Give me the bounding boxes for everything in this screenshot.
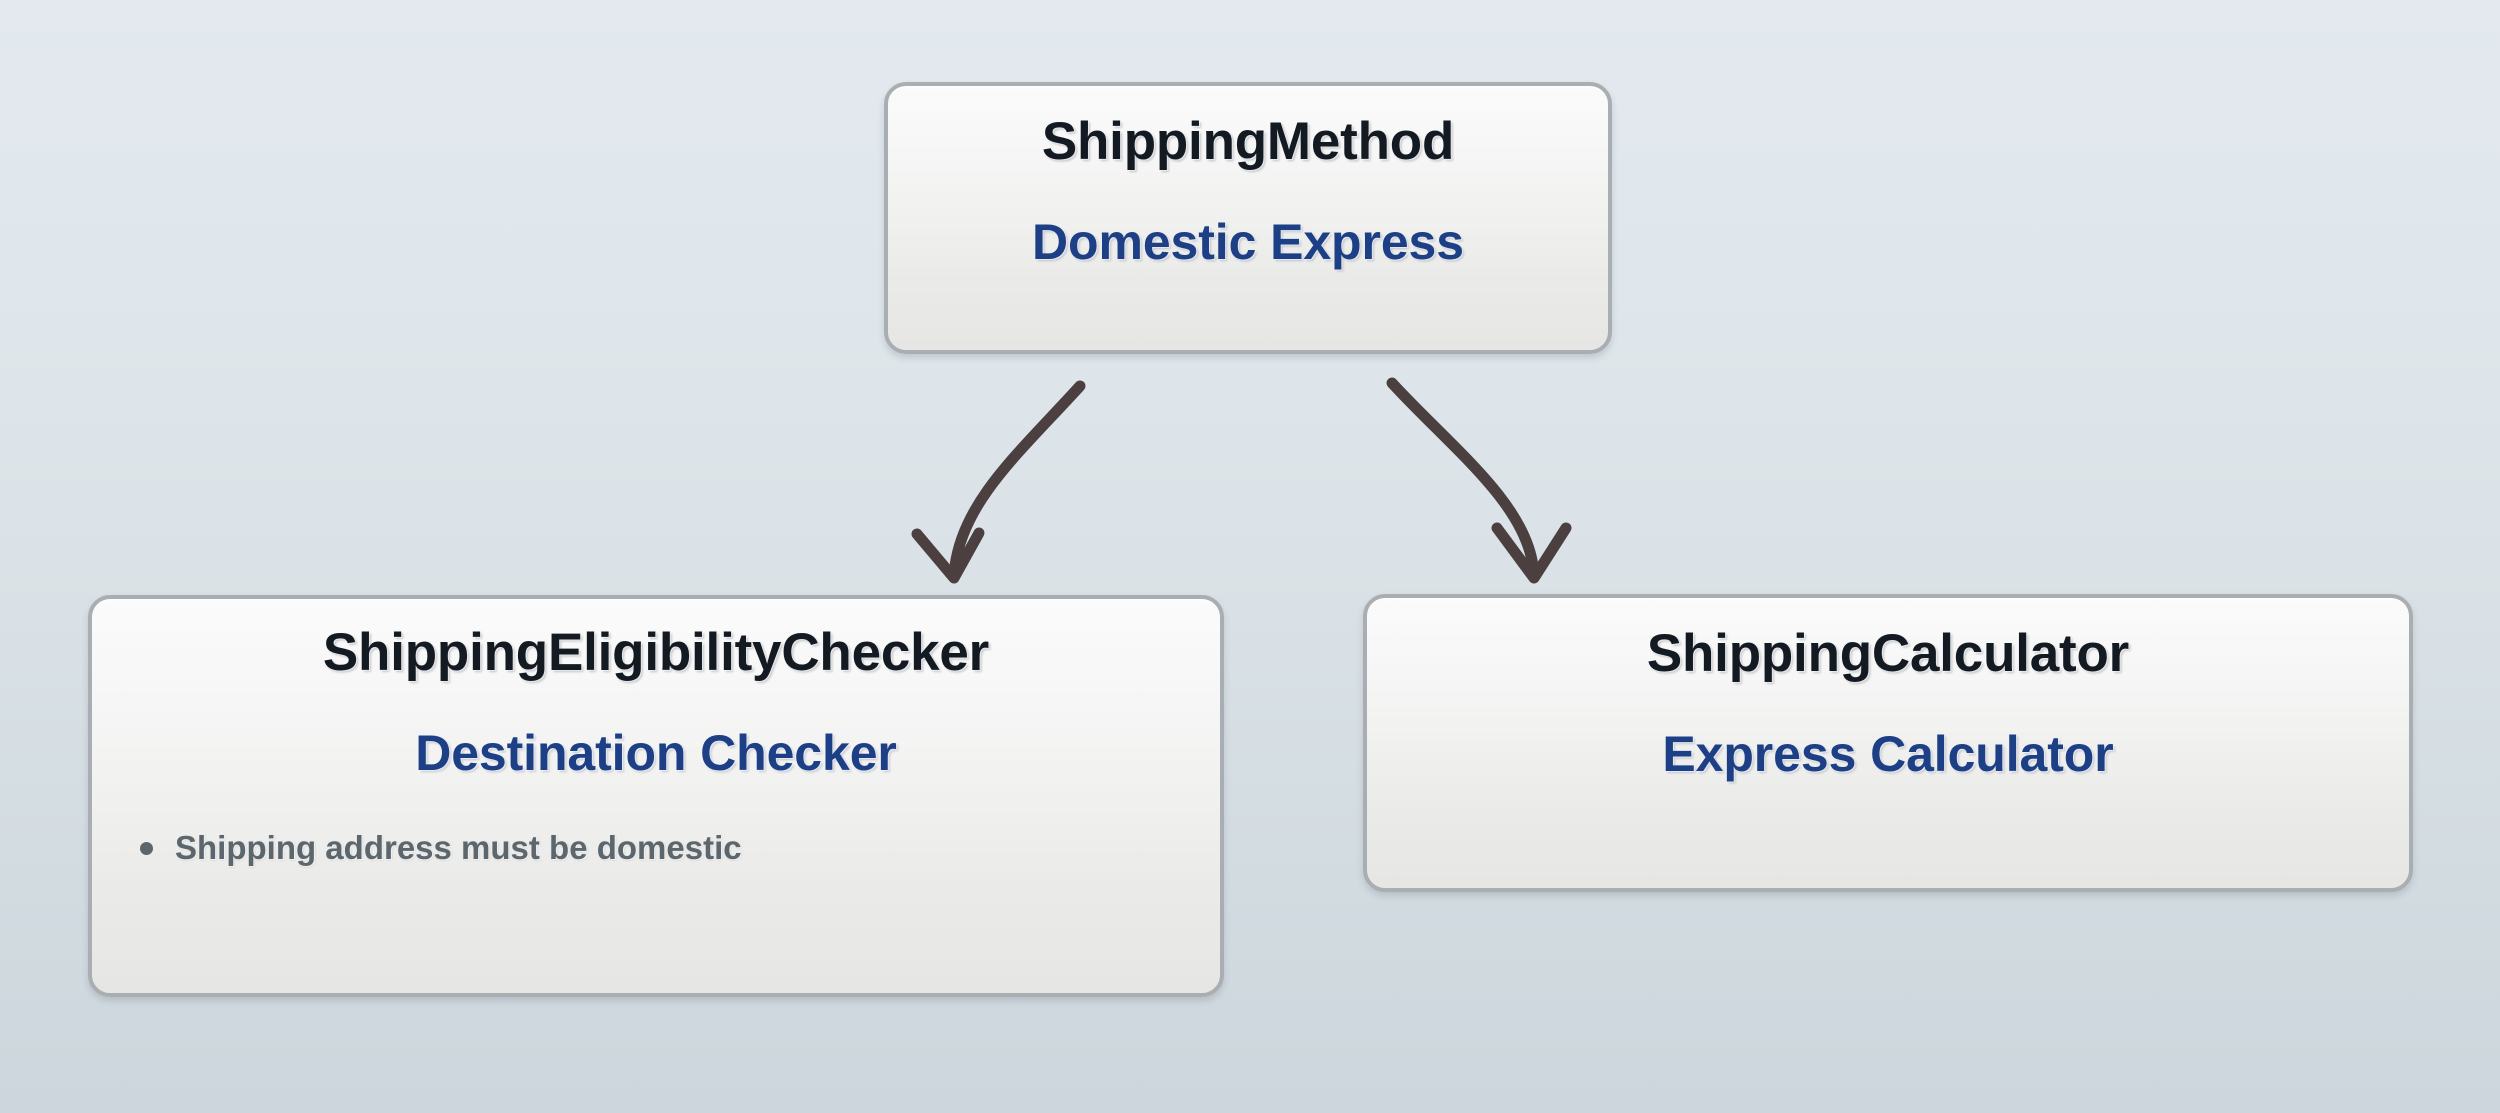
node-shipping-eligibility-checker-subtitle: Destination Checker	[415, 727, 897, 780]
diagram-canvas: ShippingMethod Domestic Express Shipping…	[0, 0, 2500, 1113]
rule-text: Shipping address must be domestic	[175, 829, 1220, 867]
edge-method-to-calculator-arrowhead	[1497, 528, 1566, 578]
node-shipping-calculator-title: ShippingCalculator	[1647, 626, 2129, 682]
node-shipping-eligibility-checker-rules: Shipping address must be domestic	[92, 829, 1220, 867]
edge-method-to-calculator	[1392, 383, 1566, 578]
node-shipping-method[interactable]: ShippingMethod Domestic Express	[884, 82, 1612, 354]
list-item: Shipping address must be domestic	[140, 829, 1220, 867]
node-shipping-eligibility-checker-title: ShippingEligibilityChecker	[323, 625, 989, 681]
node-shipping-eligibility-checker[interactable]: ShippingEligibilityChecker Destination C…	[88, 595, 1224, 997]
node-shipping-method-title: ShippingMethod	[1042, 114, 1454, 170]
edge-method-to-checker-arrowhead	[917, 533, 979, 578]
edge-method-to-calculator-line	[1392, 383, 1533, 566]
bullet-icon	[140, 842, 153, 855]
node-shipping-calculator-subtitle: Express Calculator	[1662, 728, 2113, 781]
node-shipping-calculator[interactable]: ShippingCalculator Express Calculator	[1363, 594, 2413, 892]
node-shipping-method-subtitle: Domestic Express	[1032, 216, 1464, 269]
edge-method-to-checker-line	[955, 386, 1080, 566]
edge-method-to-checker	[917, 386, 1080, 578]
